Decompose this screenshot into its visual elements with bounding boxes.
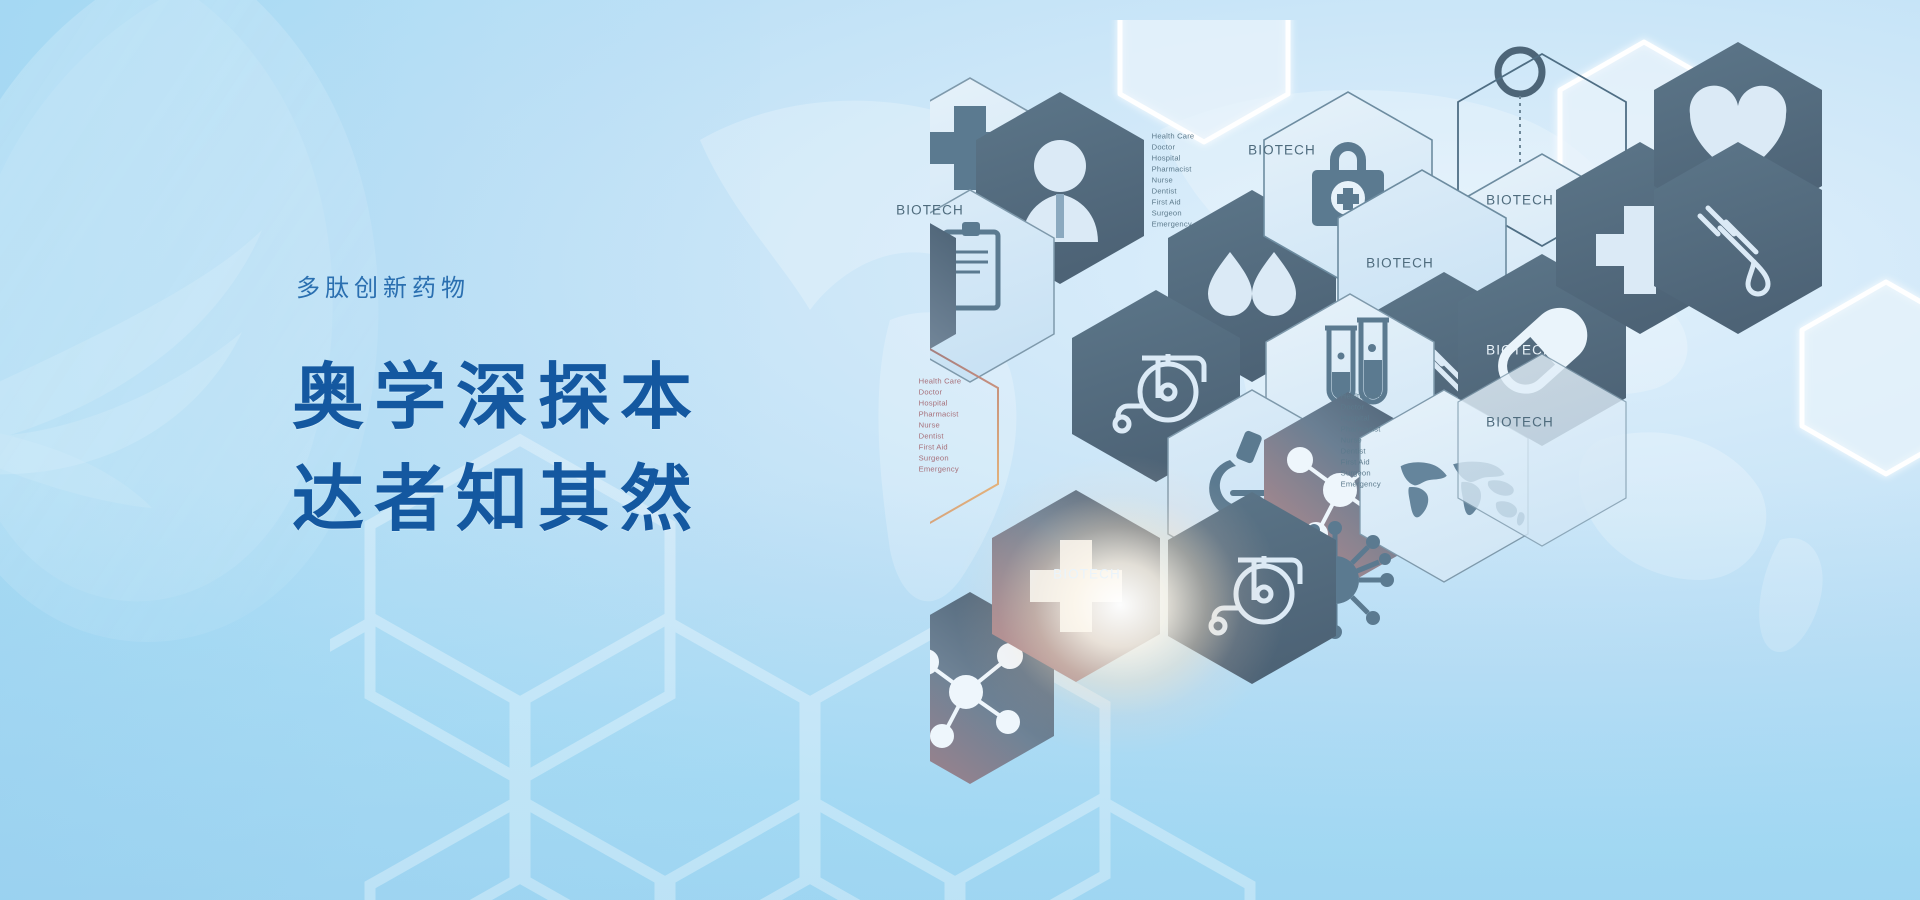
hexagon-grid [930,20,1920,840]
banner-subtitle: 多肽创新药物 [296,268,932,303]
banner-headline-line2: 达者知其然 [292,449,932,551]
hexagon-icon-cluster: BIOTECHBIOTECHBIOTECHBIOTECHBIOTECHBIOTE… [930,20,1920,840]
banner-root: 多肽创新药物 奥学深探本 达者知其然 [0,0,1920,900]
banner-headline-line1: 奥学深探本 [292,347,932,449]
banner-copy: 多肽创新药物 奥学深探本 达者知其然 [292,268,932,551]
